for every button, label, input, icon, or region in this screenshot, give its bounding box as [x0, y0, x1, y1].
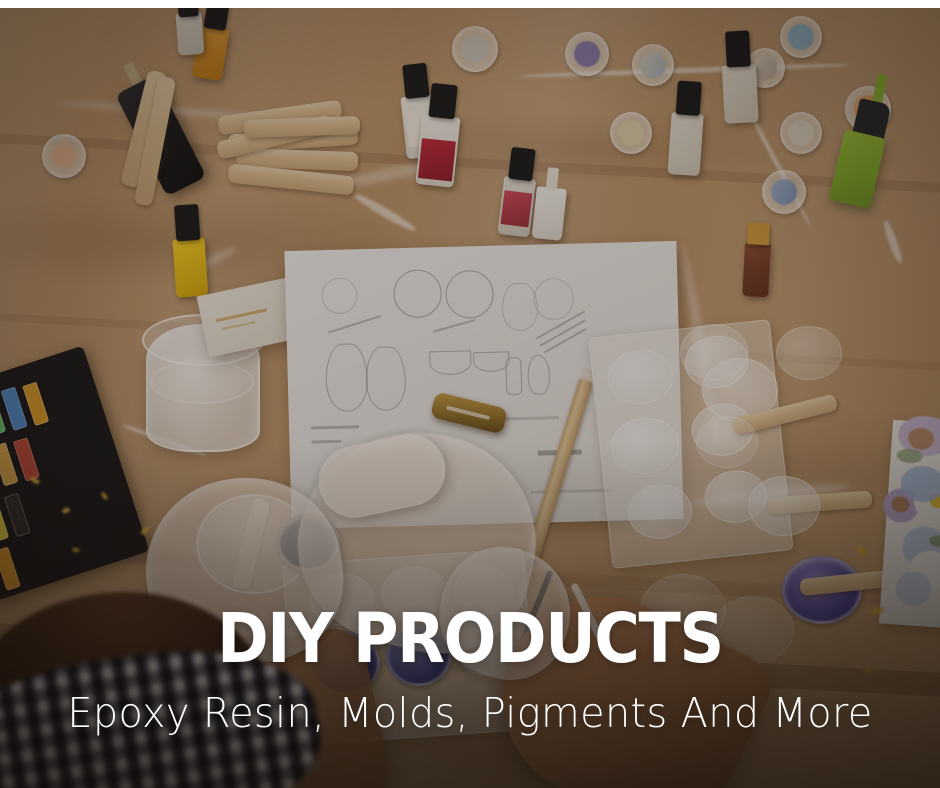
glitter-jar — [780, 16, 822, 58]
bottle-body — [667, 112, 703, 176]
bottle-body — [722, 64, 759, 124]
sketch-bar — [527, 354, 550, 395]
bottle-cap — [747, 222, 770, 245]
sketch-earring — [533, 278, 574, 321]
glitter-vial — [0, 547, 21, 592]
bottle-label — [418, 138, 456, 181]
bottle-body — [532, 186, 567, 241]
bottle-cap — [177, 8, 199, 17]
glitter-vial — [13, 437, 40, 482]
bottle-cap — [676, 80, 702, 116]
jar-contents — [461, 35, 489, 63]
top-white-strip — [0, 0, 940, 8]
bottle-cap — [174, 204, 200, 242]
sketch-bar — [505, 357, 522, 395]
bottle-nozzle — [546, 167, 559, 190]
jar-contents — [574, 41, 601, 68]
card-print-line — [222, 321, 256, 330]
jar-contents — [788, 24, 814, 50]
sketch-pendant — [365, 346, 407, 411]
sketch-circle — [393, 269, 442, 318]
mold-cavity — [696, 416, 758, 468]
bottle-label — [500, 190, 532, 227]
glitter-jar — [565, 32, 609, 76]
diy-products-banner: DIY PRODUCTS Epoxy Resin, Molds, Pigment… — [0, 0, 940, 788]
sketch-circle — [321, 277, 358, 314]
mold-cavity — [605, 347, 676, 408]
bottle-cap — [402, 63, 429, 99]
glitter-jar — [762, 170, 806, 214]
jar-contents — [788, 120, 814, 146]
glitter-jar — [780, 112, 822, 154]
sketch-circle — [445, 270, 494, 319]
sketch-dish — [429, 350, 472, 375]
bottle-body — [742, 242, 771, 297]
glitter-jar — [452, 26, 498, 72]
clip-highlight — [446, 405, 490, 420]
glitter-jar — [632, 44, 674, 86]
sketch-note — [531, 489, 611, 494]
glitter-jar — [610, 112, 652, 154]
card-print-line — [216, 308, 267, 322]
sketch-note — [311, 440, 341, 444]
jar-contents — [640, 52, 666, 78]
bottle-cap — [428, 83, 457, 120]
sketch-line — [433, 319, 476, 332]
sketch-earring — [501, 283, 538, 332]
mold-cavity — [625, 481, 694, 541]
bottle-cap — [725, 30, 751, 67]
glitter-vial — [22, 382, 49, 427]
jar-contents — [771, 179, 798, 206]
mold-cavity — [680, 324, 748, 380]
jar-contents — [753, 56, 777, 80]
sketch-note — [311, 425, 359, 429]
jar-contents — [51, 143, 78, 170]
mold-cavity — [776, 326, 842, 380]
mold-cavity — [748, 476, 820, 536]
bottle-cap — [508, 147, 536, 182]
mold-cavity — [608, 414, 681, 477]
sketch-dish — [473, 351, 510, 372]
jar-contents — [618, 120, 644, 146]
bottle-body — [176, 12, 205, 56]
sketch-pendant — [325, 343, 369, 412]
glitter-jar — [42, 134, 86, 178]
sketch-line — [327, 315, 381, 333]
bottle-body — [172, 238, 208, 298]
glitter-vial — [4, 493, 31, 538]
cup-rim-secondary — [150, 360, 254, 404]
workbench-photo — [0, 8, 940, 788]
